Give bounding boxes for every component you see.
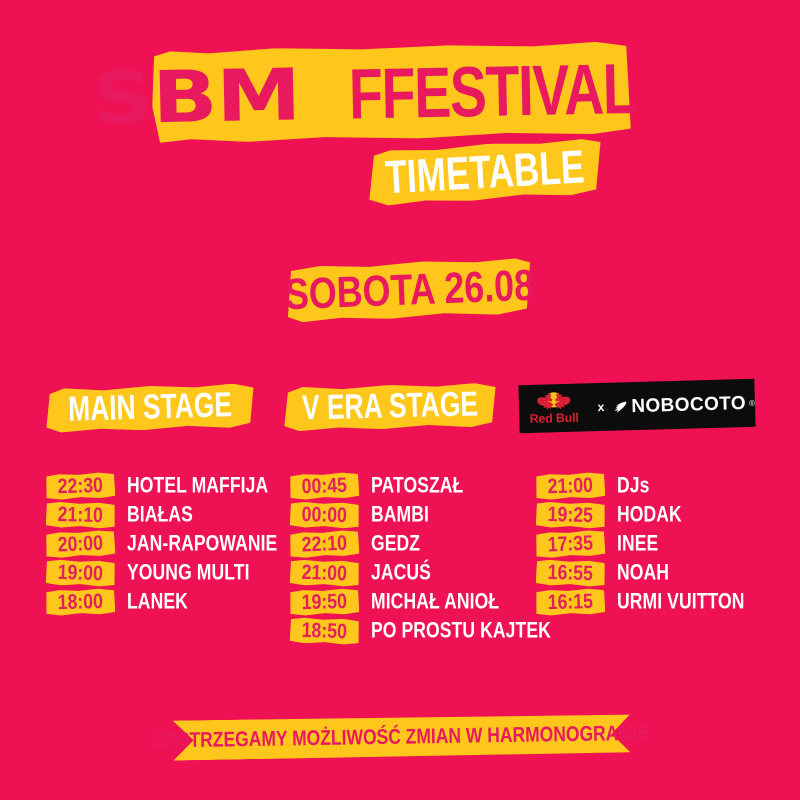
brand-sbm: SBM (92, 59, 301, 135)
nobocoto-wordmark: NOBOCOTO (631, 393, 746, 415)
footer-disclaimer-text: ZASTRZEGAMY MOŻLIWOŚĆ ZMIAN W HARMONOGRA… (154, 722, 649, 751)
time-label: 22:10 (301, 533, 347, 556)
sponsor-bar: Red Bull x NOBOCOTO ® (518, 379, 755, 434)
sponsor-separator: x (597, 400, 604, 414)
time-tag: 22:30 (46, 472, 116, 500)
date-banner: SOBOTA 26.08 (286, 257, 532, 322)
artist-name-text: LANEK (127, 587, 188, 616)
time-tag: 20:00 (45, 530, 115, 559)
artist-name-text: HOTEL MAFFIJA (127, 471, 268, 500)
artist-name: BAMBI (371, 502, 435, 528)
artist-name-text: JAN-RAPOWANIE (127, 529, 277, 558)
time-label: 19:00 (58, 562, 104, 584)
time-tag: 16:15 (536, 588, 606, 616)
artist-name-text: INEE (617, 529, 658, 558)
time-label: 18:00 (58, 591, 104, 613)
artist-name-text: PATOSZAŁ (371, 471, 463, 500)
nobocoto-leaf-icon (613, 399, 628, 414)
stage-header-main-stage: MAIN STAGE (45, 383, 254, 433)
schedule-row: 18:00LANEK (46, 589, 286, 618)
schedule-row: 17:35INEE (536, 531, 786, 560)
red-bull-bulls-icon (525, 391, 582, 413)
artist-name: PO PROSTU KAJTEK (371, 618, 571, 644)
registered-trademark-mark: ® (749, 398, 755, 407)
artist-name-text: PO PROSTU KAJTEK (371, 616, 551, 645)
schedule-row: 16:15URMI VUITTON (536, 589, 786, 618)
schedule-row: 20:00JAN-RAPOWANIE (46, 531, 286, 560)
time-label: 21:00 (548, 475, 594, 497)
time-tag: 21:10 (46, 501, 116, 529)
timetable-subtitle-text: TIMETABLE (384, 143, 585, 201)
artist-name-text: GEDZ (371, 529, 420, 558)
time-label: 17:35 (547, 533, 593, 556)
stage-header-v-era-stage-label: V ERA STAGE (302, 388, 479, 427)
artist-name: JACUŚ (371, 560, 438, 586)
artist-name-text: MICHAŁ ANIOŁ (371, 587, 499, 616)
artist-name: NOAH (617, 560, 675, 586)
time-tag: 21:00 (290, 559, 360, 587)
festival-title: SBM FFESTIVAL (151, 41, 631, 144)
time-tag: 22:10 (289, 530, 359, 559)
footer-disclaimer: ZASTRZEGAMY MOŻLIWOŚĆ ZMIAN W HARMONOGRA… (173, 713, 631, 760)
stage-header-main-stage-label: MAIN STAGE (68, 388, 233, 427)
artist-name: HOTEL MAFFIJA (127, 473, 284, 499)
red-bull-wordmark: Red Bull (529, 412, 578, 426)
date-banner-text: SOBOTA 26.08 (284, 263, 535, 316)
schedule-row: 21:10BIAŁAS (46, 502, 286, 531)
festival-timetable-poster: SBM FFESTIVAL TIMETABLE SOBOTA 26.08 MAI… (0, 0, 800, 800)
time-tag: 16:55 (536, 559, 606, 587)
artist-name: BIAŁAS (127, 502, 200, 528)
schedule-row: 22:10GEDZ (290, 531, 540, 560)
time-label: 18:50 (302, 620, 348, 642)
artist-name: PATOSZAŁ (371, 473, 474, 499)
brand-ffestival: FFESTIVAL (348, 52, 636, 129)
time-tag: 17:35 (535, 530, 605, 559)
artist-name: YOUNG MULTI (127, 560, 263, 586)
artist-name-text: JACUŚ (371, 558, 431, 587)
timetable-subtitle: TIMETABLE (367, 138, 604, 207)
schedule-row: 19:00YOUNG MULTI (46, 560, 286, 589)
schedule-column-v-era-stage: 00:45PATOSZAŁ00:00BAMBI22:10GEDZ21:00JAC… (290, 473, 540, 647)
schedule-row: 18:50PO PROSTU KAJTEK (290, 618, 540, 647)
schedule-row: 00:00BAMBI (290, 502, 540, 531)
time-label: 16:15 (548, 591, 594, 613)
time-label: 19:25 (548, 504, 594, 526)
schedule-column-three: 21:00DJs19:25HODAK17:35INEE16:55NOAH16:1… (536, 473, 786, 618)
artist-name-text: HODAK (617, 500, 682, 529)
time-tag: 21:00 (536, 472, 606, 500)
time-label: 21:10 (58, 504, 104, 526)
time-tag: 19:50 (290, 588, 360, 616)
time-tag: 18:50 (290, 617, 360, 645)
time-tag: 19:00 (46, 559, 116, 587)
artist-name: HODAK (617, 502, 689, 528)
artist-name-text: BAMBI (371, 500, 429, 529)
artist-name: DJs (617, 473, 653, 499)
artist-name: JAN-RAPOWANIE (127, 531, 294, 557)
artist-name: INEE (617, 531, 663, 557)
time-label: 16:55 (548, 562, 594, 584)
schedule-row: 21:00JACUŚ (290, 560, 540, 589)
time-label: 22:30 (58, 475, 104, 497)
red-bull-logo: Red Bull (519, 391, 590, 426)
artist-name: GEDZ (371, 531, 426, 557)
artist-name-text: YOUNG MULTI (127, 558, 250, 587)
time-label: 19:50 (302, 591, 348, 613)
time-label: 21:00 (302, 562, 348, 584)
time-label: 00:45 (302, 475, 348, 497)
artist-name: MICHAŁ ANIOŁ (371, 589, 513, 615)
artist-name-text: NOAH (617, 558, 669, 587)
time-tag: 18:00 (46, 588, 116, 616)
time-label: 00:00 (302, 504, 348, 526)
time-tag: 00:00 (290, 501, 360, 529)
schedule-row: 19:25HODAK (536, 502, 786, 531)
artist-name-text: DJs (617, 471, 649, 500)
schedule-row: 00:45PATOSZAŁ (290, 473, 540, 502)
schedule-row: 21:00DJs (536, 473, 786, 502)
time-tag: 19:25 (536, 501, 606, 529)
artist-name: URMI VUITTON (617, 589, 759, 615)
schedule-row: 22:30HOTEL MAFFIJA (46, 473, 286, 502)
schedule-row: 19:50MICHAŁ ANIOŁ (290, 589, 540, 618)
artist-name-text: BIAŁAS (127, 500, 193, 529)
time-label: 20:00 (57, 533, 103, 556)
artist-name-text: URMI VUITTON (617, 587, 745, 616)
schedule-column-main-stage: 22:30HOTEL MAFFIJA21:10BIAŁAS20:00JAN-RA… (46, 473, 286, 618)
time-tag: 00:45 (290, 472, 360, 500)
stage-header-v-era-stage: V ERA STAGE (284, 383, 497, 432)
artist-name: LANEK (127, 589, 195, 615)
schedule-row: 16:55NOAH (536, 560, 786, 589)
nobocoto-logo: NOBOCOTO ® (613, 393, 755, 416)
